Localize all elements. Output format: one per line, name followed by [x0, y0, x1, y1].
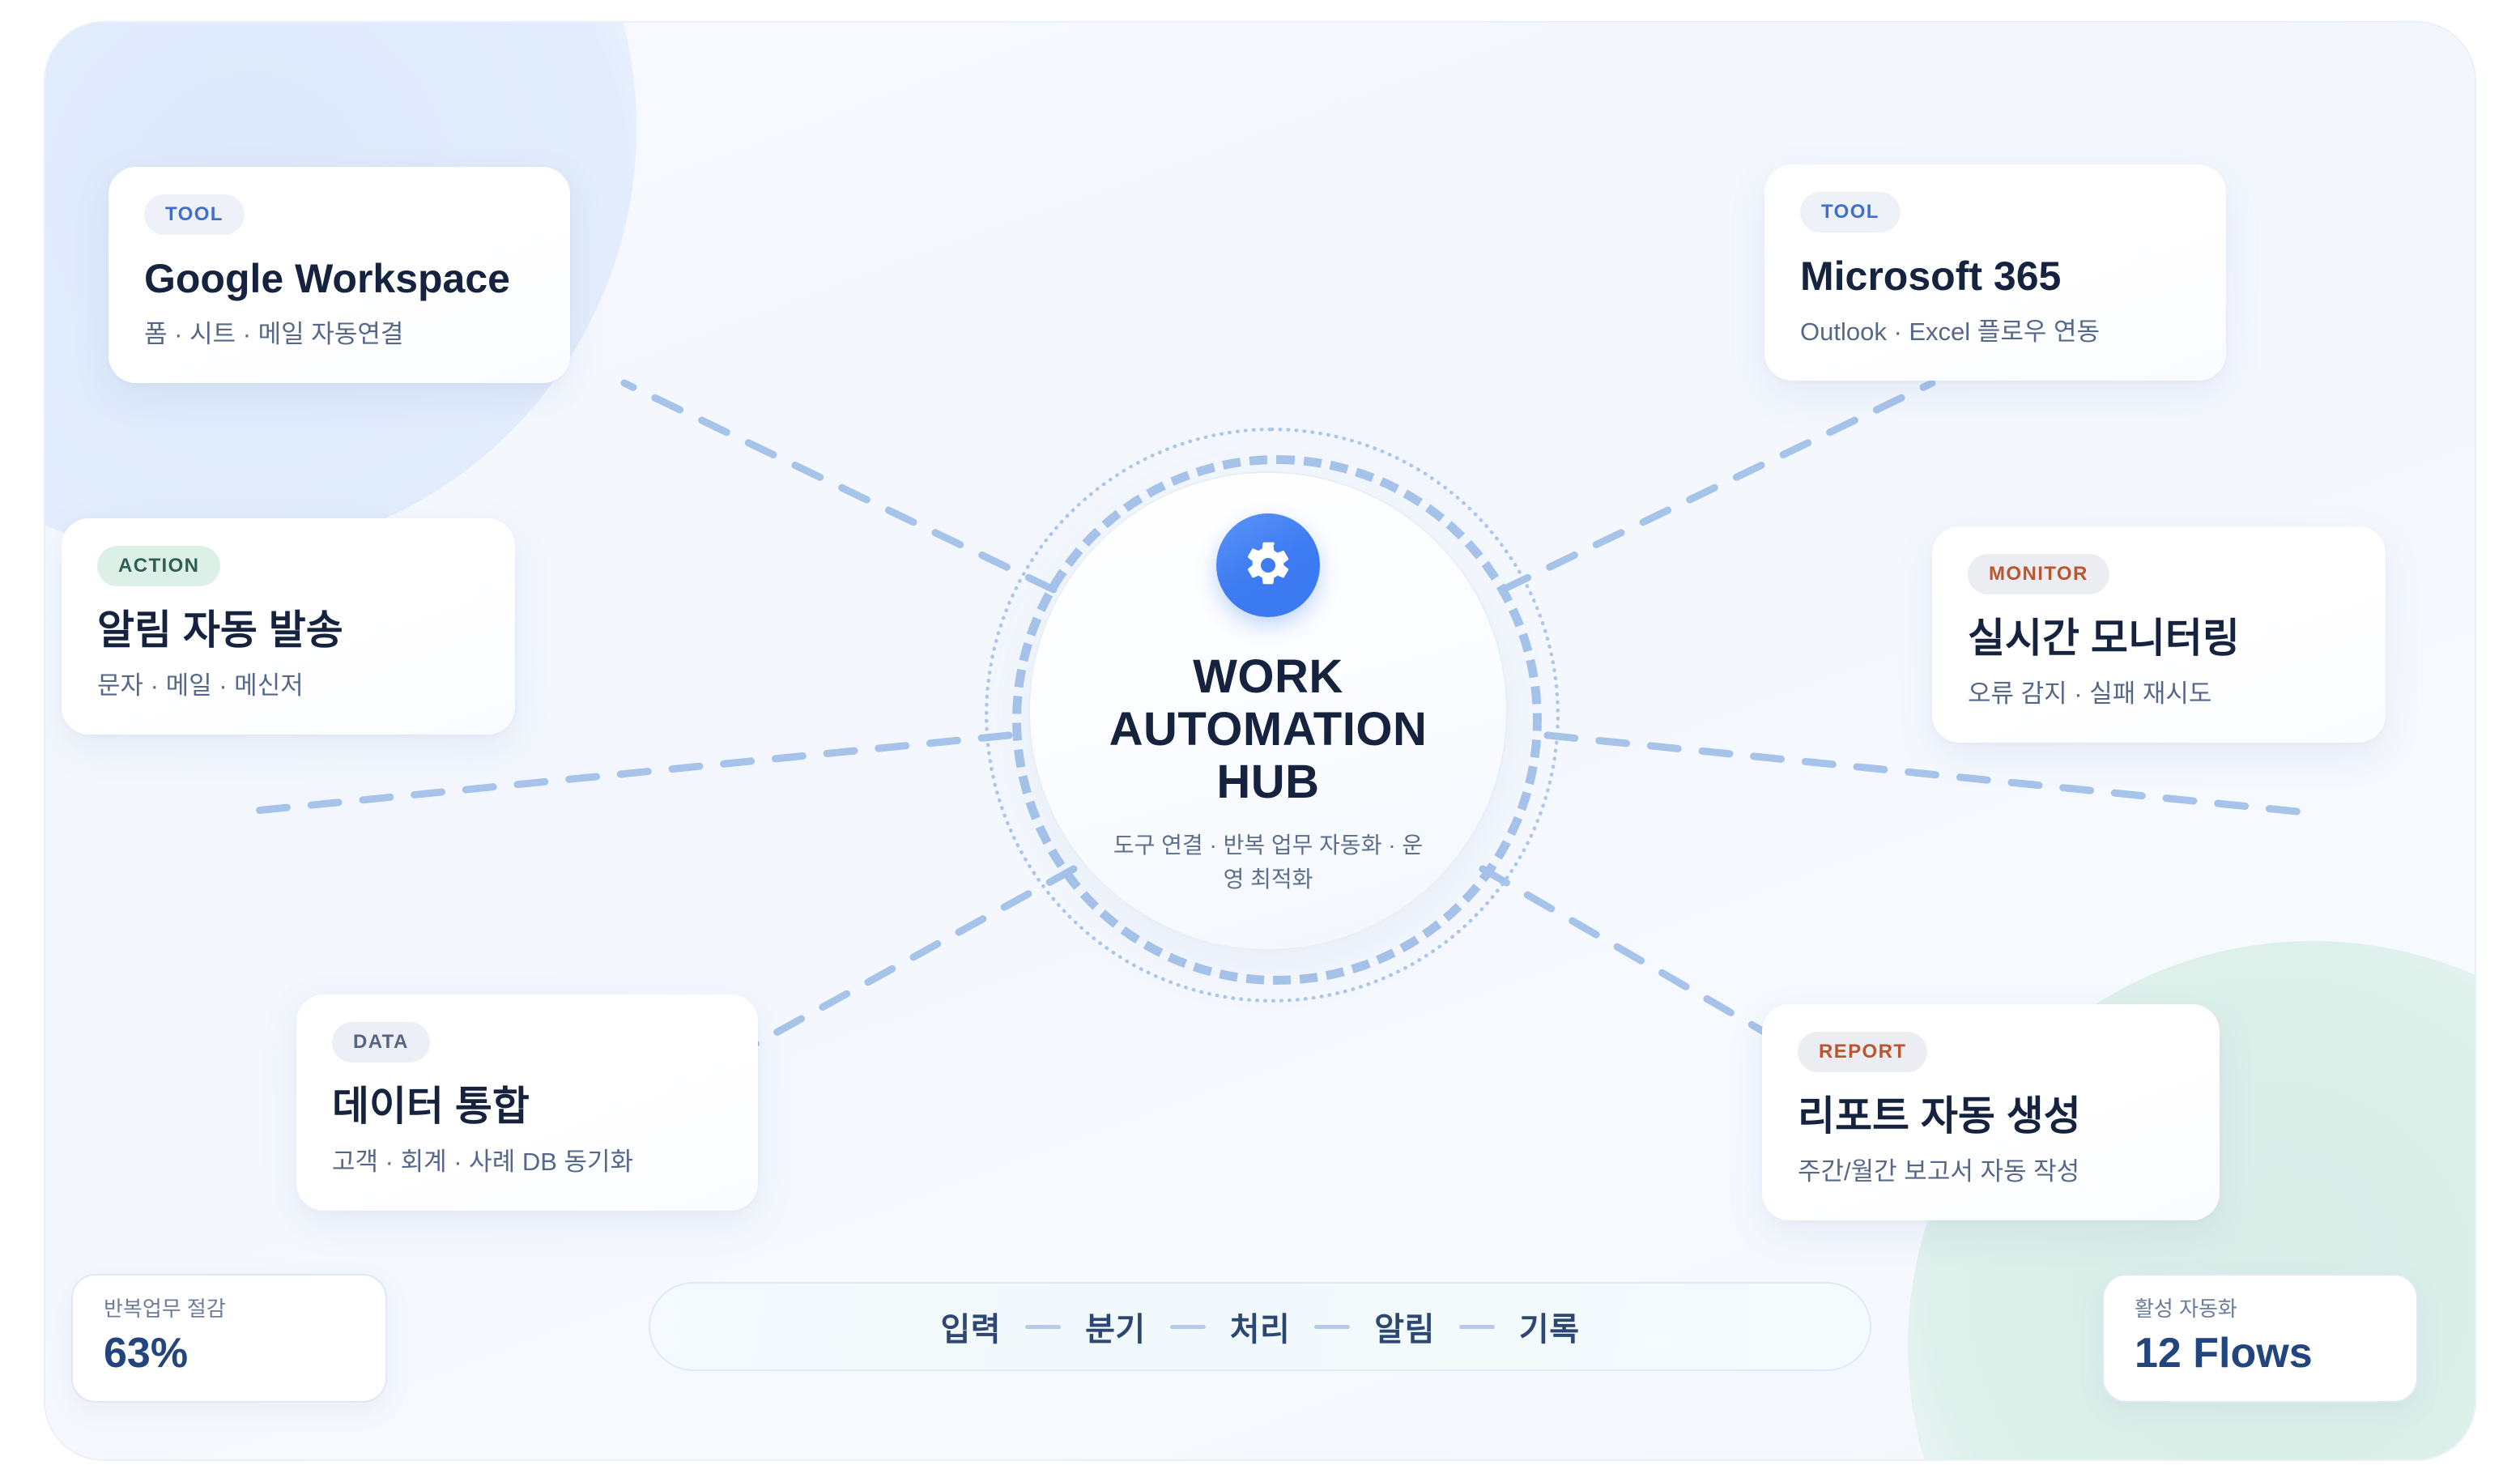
connector-microsoft-365	[1503, 383, 1932, 590]
node-title: Google Workspace	[144, 256, 534, 302]
node-title: 알림 자동 발송	[97, 607, 479, 654]
node-description: 오류 감지 · 실패 재시도	[1968, 678, 2350, 710]
node-card-report-generation[interactable]: REPORT 리포트 자동 생성 주간/월간 보고서 자동 작성	[1762, 1004, 2220, 1220]
flow-step-notify: 알림	[1374, 1303, 1435, 1350]
flow-step-record: 기록	[1519, 1303, 1580, 1350]
node-card-realtime-monitoring[interactable]: MONITOR 실시간 모니터링 오류 감지 · 실패 재시도	[1932, 526, 2386, 743]
central-hub[interactable]: WORK AUTOMATION HUB 도구 연결 · 반복 업무 자동화 · …	[985, 428, 1552, 994]
flow-step-branch: 분기	[1085, 1303, 1146, 1350]
node-card-data-integration[interactable]: DATA 데이터 통합 고객 · 회계 · 사례 DB 동기화	[296, 994, 758, 1211]
hub-title: WORK AUTOMATION HUB	[1106, 651, 1430, 809]
node-card-alarm-dispatch[interactable]: ACTION 알림 자동 발송 문자 · 메일 · 메신저	[62, 518, 515, 735]
node-badge: DATA	[332, 1022, 430, 1063]
stat-card-task-reduction[interactable]: 반복업무 절감 63%	[71, 1274, 387, 1403]
node-badge: REPORT	[1798, 1032, 1927, 1072]
node-badge: MONITOR	[1968, 554, 2109, 594]
stat-value: 12 Flows	[2135, 1330, 2386, 1377]
gear-icon	[1216, 513, 1320, 617]
node-title: 실시간 모니터링	[1968, 615, 2350, 662]
node-card-microsoft-365[interactable]: TOOL Microsoft 365 Outlook · Excel 플로우 연…	[1764, 164, 2226, 381]
flow-step-input: 입력	[940, 1303, 1001, 1350]
node-title: 데이터 통합	[332, 1084, 722, 1130]
node-description: 문자 · 메일 · 메신저	[97, 670, 479, 702]
stat-label: 반복업무 절감	[104, 1297, 355, 1322]
node-title: 리포트 자동 생성	[1798, 1093, 2184, 1139]
node-badge: TOOL	[1800, 192, 1901, 232]
node-description: 주간/월간 보고서 자동 작성	[1798, 1156, 2184, 1188]
connector-monitoring	[1547, 735, 2305, 812]
node-badge: ACTION	[97, 546, 220, 586]
infographic-canvas: WORK AUTOMATION HUB 도구 연결 · 반복 업무 자동화 · …	[45, 23, 2475, 1459]
stat-label: 활성 자동화	[2135, 1297, 2386, 1322]
infographic-stage: WORK AUTOMATION HUB 도구 연결 · 반복 업무 자동화 · …	[0, 0, 2520, 1482]
node-title: Microsoft 365	[1800, 253, 2190, 300]
node-badge: TOOL	[144, 194, 245, 235]
node-description: 폼 · 시트 · 메일 자동연결	[144, 318, 534, 351]
flow-pipeline-bar[interactable]: 입력 분기 처리 알림 기록	[649, 1282, 1871, 1371]
stat-card-active-flows[interactable]: 활성 자동화 12 Flows	[2102, 1274, 2418, 1403]
flow-separator-dash	[1459, 1325, 1495, 1329]
hub-subtitle: 도구 연결 · 반복 업무 자동화 · 운영 최적화	[1106, 828, 1430, 896]
flow-step-process: 처리	[1230, 1303, 1291, 1350]
node-card-google-workspace[interactable]: TOOL Google Workspace 폼 · 시트 · 메일 자동연결	[109, 167, 570, 383]
stat-value: 63%	[104, 1330, 355, 1377]
flow-separator-dash	[1170, 1325, 1206, 1329]
flow-separator-dash	[1025, 1325, 1061, 1329]
node-description: 고객 · 회계 · 사례 DB 동기화	[332, 1146, 722, 1178]
node-description: Outlook · Excel 플로우 연동	[1800, 316, 2190, 348]
flow-separator-dash	[1314, 1325, 1350, 1329]
hub-disc: WORK AUTOMATION HUB 도구 연결 · 반복 업무 자동화 · …	[1028, 471, 1508, 951]
connector-alarm-dispatch	[240, 735, 1009, 812]
